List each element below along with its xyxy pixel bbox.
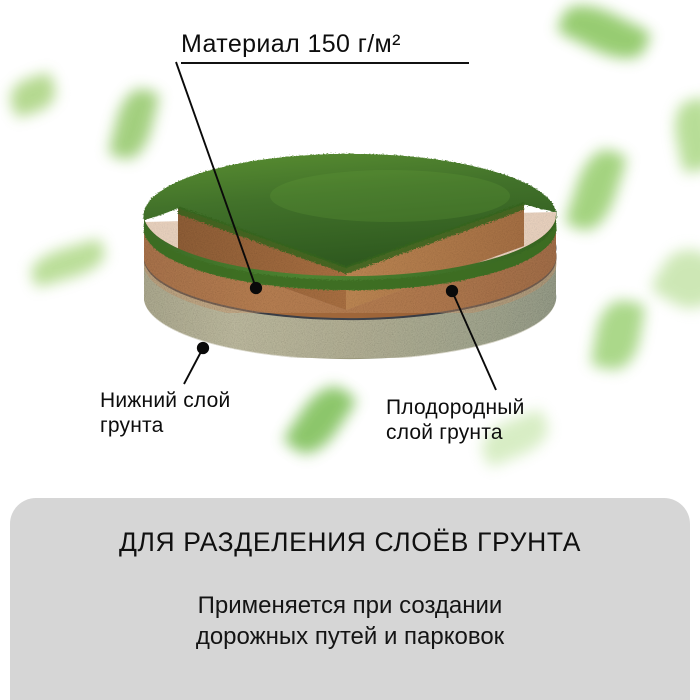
callout-material-underline	[181, 62, 469, 64]
callout-fertile-layer-label: Плодородный слой грунта	[386, 396, 525, 446]
info-panel: ДЛЯ РАЗДЕЛЕНИЯ СЛОЁВ ГРУНТА Применяется …	[10, 498, 690, 700]
info-panel-subline: Применяется при создании дорожных путей …	[10, 590, 690, 652]
leaf-icon	[27, 238, 108, 288]
info-panel-headline: ДЛЯ РАЗДЕЛЕНИЯ СЛОЁВ ГРУНТА	[10, 527, 690, 558]
leaf-icon	[564, 144, 628, 236]
leaf-icon	[6, 72, 60, 119]
leaf-icon	[590, 297, 645, 374]
callout-bottom-layer-label: Нижний слой грунта	[100, 389, 230, 439]
leaf-icon	[282, 377, 358, 462]
leaf-icon	[556, 0, 653, 69]
poster-canvas: Материал 150 г/м² Нижний слой грунта Пло…	[0, 0, 700, 700]
leaf-icon	[650, 239, 700, 319]
soil-cross-section-illustration	[140, 148, 560, 378]
leaf-icon	[669, 97, 700, 174]
callout-material-label: Материал 150 г/м²	[181, 30, 401, 60]
